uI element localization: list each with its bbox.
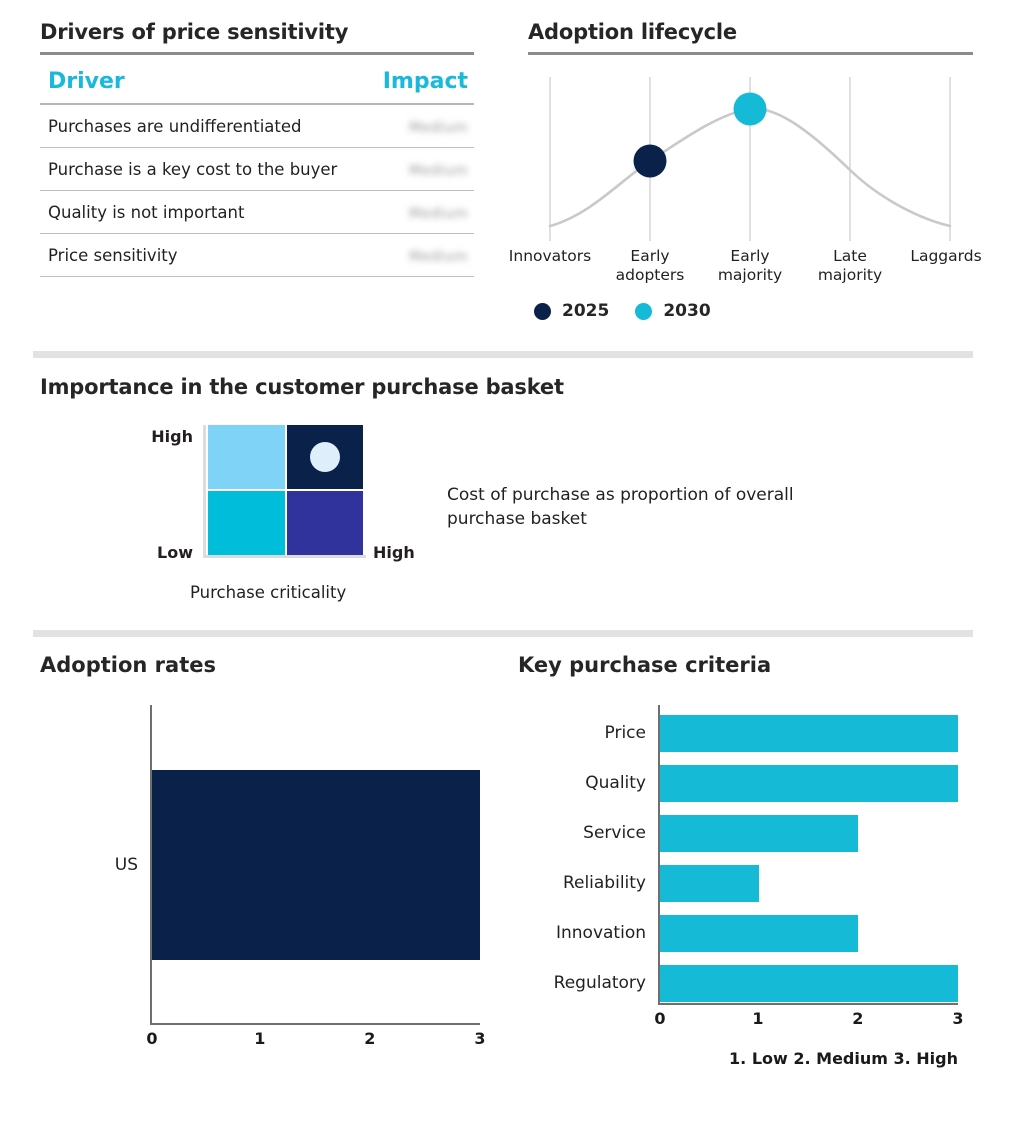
lifecycle-tick-innovators: Innovators (509, 247, 591, 266)
matrix-y-label-high: High (151, 427, 193, 446)
dashboard-page: Drivers of price sensitivity Driver Impa… (0, 0, 1026, 1124)
table-row: Purchase is a key cost to the buyer Medi… (40, 148, 474, 191)
x-tick-3: 3 (952, 1009, 963, 1028)
purchase-basket-matrix: High Low High Purchase criticality (40, 425, 425, 585)
quadrant-bottom-left (208, 491, 285, 555)
drivers-table: Driver Impact Purchases are undifferenti… (40, 67, 474, 277)
impact-cell: Medium (340, 191, 474, 234)
lifecycle-tick-early-majority: Early majority (718, 247, 782, 285)
adoption-rates-category-labels: US (40, 705, 150, 1025)
matrix-note-text: Cost of purchase as proportion of overal… (447, 483, 847, 531)
x-tick-1: 1 (752, 1009, 763, 1028)
importance-purchase-basket-panel: Importance in the customer purchase bask… (40, 375, 980, 585)
category-label-us: US (115, 855, 138, 875)
redacted-impact-value: Medium (409, 163, 468, 179)
x-tick-2: 2 (852, 1009, 863, 1028)
quadrant-top-left (208, 425, 285, 489)
redacted-impact-value: Medium (409, 120, 468, 136)
category-label-price: Price (605, 723, 646, 743)
bar-service (660, 815, 858, 852)
drivers-table-header-row: Driver Impact (40, 67, 474, 104)
category-label-quality: Quality (585, 773, 646, 793)
matrix-quadrants (208, 425, 363, 555)
legend-label-2025: 2025 (562, 301, 609, 321)
table-row: Quality is not important Medium (40, 191, 474, 234)
driver-cell: Price sensitivity (40, 234, 340, 277)
key-purchase-criteria-chart: Price Quality Service Reliability Innova… (518, 705, 958, 1068)
lifecycle-title-rule (528, 52, 973, 55)
bar-price (660, 715, 958, 752)
matrix-y-axis (203, 425, 206, 558)
legend-item-2025: 2025 (534, 301, 609, 321)
lifecycle-legend: 2025 2030 (534, 301, 973, 321)
bar-innovation (660, 915, 858, 952)
table-row: Price sensitivity Medium (40, 234, 474, 277)
redacted-impact-value: Medium (409, 249, 468, 265)
section-divider-2 (33, 630, 973, 637)
criteria-plot-area (658, 705, 958, 1005)
lifecycle-marker-2030 (734, 93, 767, 126)
section-divider-1 (33, 351, 973, 358)
impact-cell: Medium (340, 234, 474, 277)
bar-reliability (660, 865, 759, 902)
matrix-x-label-high: High (373, 543, 415, 562)
driver-cell: Quality is not important (40, 191, 340, 234)
basket-matrix-row: High Low High Purchase criticality Cost … (40, 425, 980, 585)
legend-dot-icon-2025 (534, 303, 551, 320)
adoption-rates-plot-area (150, 705, 480, 1025)
x-tick-2: 2 (364, 1029, 375, 1048)
category-label-regulatory: Regulatory (554, 973, 646, 993)
impact-cell: Medium (340, 148, 474, 191)
adoption-rates-x-axis: 0 1 2 3 (150, 1025, 480, 1053)
driver-cell: Purchase is a key cost to the buyer (40, 148, 340, 191)
lifecycle-tick-late-majority: Late majority (818, 247, 882, 285)
criteria-footnote: 1. Low 2. Medium 3. High (518, 1049, 958, 1068)
category-label-reliability: Reliability (563, 873, 646, 893)
x-tick-0: 0 (146, 1029, 157, 1048)
drivers-title-rule (40, 52, 474, 55)
adoption-lifecycle-chart (528, 69, 973, 247)
matrix-x-axis (203, 555, 366, 558)
legend-item-2030: 2030 (635, 301, 710, 321)
adoption-lifecycle-panel: Adoption lifecycle Innovators (528, 20, 973, 321)
criteria-x-axis: 0 1 2 3 (658, 1005, 958, 1033)
category-label-service: Service (583, 823, 646, 843)
matrix-x-axis-caption: Purchase criticality (190, 583, 346, 602)
adoption-rates-chart: US 0 1 2 3 (40, 705, 480, 1053)
quadrant-top-right (287, 425, 364, 489)
bar-us (152, 770, 480, 960)
lifecycle-marker-2025 (634, 145, 667, 178)
adoption-rates-title: Adoption rates (40, 653, 480, 677)
x-tick-0: 0 (654, 1009, 665, 1028)
category-label-innovation: Innovation (556, 923, 646, 943)
bar-regulatory (660, 965, 958, 1002)
position-marker-icon (310, 442, 340, 472)
criteria-plot-body: Price Quality Service Reliability Innova… (518, 705, 958, 1005)
lifecycle-x-axis-labels: Innovators Early adopters Early majority… (528, 247, 973, 295)
column-header-driver: Driver (40, 67, 340, 104)
quadrant-bottom-right (287, 491, 364, 555)
drivers-of-price-sensitivity-panel: Drivers of price sensitivity Driver Impa… (40, 20, 474, 277)
legend-dot-icon-2030 (635, 303, 652, 320)
bar-quality (660, 765, 958, 802)
lifecycle-panel-title: Adoption lifecycle (528, 20, 973, 44)
column-header-impact: Impact (340, 67, 474, 104)
x-tick-1: 1 (254, 1029, 265, 1048)
impact-cell: Medium (340, 104, 474, 148)
key-purchase-criteria-title: Key purchase criteria (518, 653, 988, 677)
matrix-y-label-low: Low (157, 543, 193, 562)
adoption-rates-panel: Adoption rates US 0 1 2 3 (40, 653, 480, 1053)
table-row: Purchases are undifferentiated Medium (40, 104, 474, 148)
basket-panel-title: Importance in the customer purchase bask… (40, 375, 980, 399)
lifecycle-tick-early-adopters: Early adopters (616, 247, 685, 285)
lifecycle-svg (528, 69, 973, 247)
key-purchase-criteria-panel: Key purchase criteria Price Quality Serv… (518, 653, 988, 1068)
redacted-impact-value: Medium (409, 206, 468, 222)
criteria-category-labels: Price Quality Service Reliability Innova… (518, 705, 658, 1005)
drivers-panel-title: Drivers of price sensitivity (40, 20, 474, 44)
legend-label-2030: 2030 (663, 301, 710, 321)
lifecycle-tick-laggards: Laggards (910, 247, 981, 266)
x-tick-3: 3 (474, 1029, 485, 1048)
driver-cell: Purchases are undifferentiated (40, 104, 340, 148)
adoption-rates-plot-body: US (40, 705, 480, 1025)
